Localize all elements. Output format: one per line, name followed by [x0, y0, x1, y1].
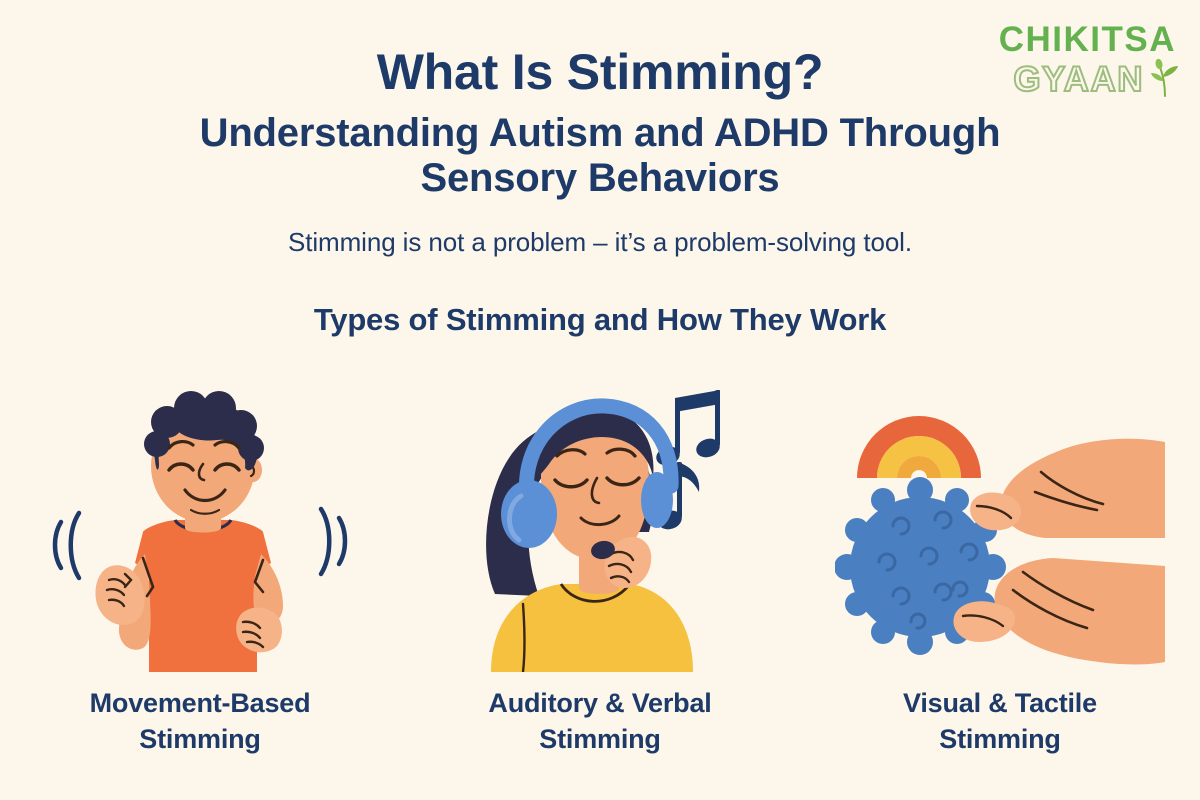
card-caption-movement-based: Movement-Based Stimming: [40, 686, 360, 757]
upper-hand: [1001, 439, 1165, 538]
rainbow-icon: [857, 416, 981, 478]
card-caption-auditory-verbal: Auditory & Verbal Stimming: [440, 686, 760, 757]
card-visual-tactile: Visual & Tactile Stimming: [815, 382, 1185, 757]
tagline-text: Stimming is not a problem – it’s a probl…: [0, 227, 1200, 258]
stimming-types-row: Movement-Based Stimming: [0, 382, 1200, 757]
motion-arc-left-icon: [55, 513, 79, 578]
section-heading: Types of Stimming and How They Work: [0, 302, 1200, 338]
girl-headphones-illustration: [435, 382, 765, 672]
lower-hand: [995, 558, 1165, 664]
header-block: What Is Stimming? Understanding Autism a…: [0, 0, 1200, 338]
page-subtitle: Understanding Autism and ADHD Through Se…: [0, 111, 1200, 201]
boy-hand-flapping-illustration: [35, 382, 365, 672]
card-movement-based: Movement-Based Stimming: [15, 382, 385, 757]
page-title: What Is Stimming?: [0, 46, 1200, 99]
card-auditory-verbal: Auditory & Verbal Stimming: [415, 382, 785, 757]
motion-arc-right-icon: [321, 509, 345, 574]
card-caption-visual-tactile: Visual & Tactile Stimming: [840, 686, 1160, 757]
hands-sensory-ball-illustration: [835, 382, 1165, 672]
